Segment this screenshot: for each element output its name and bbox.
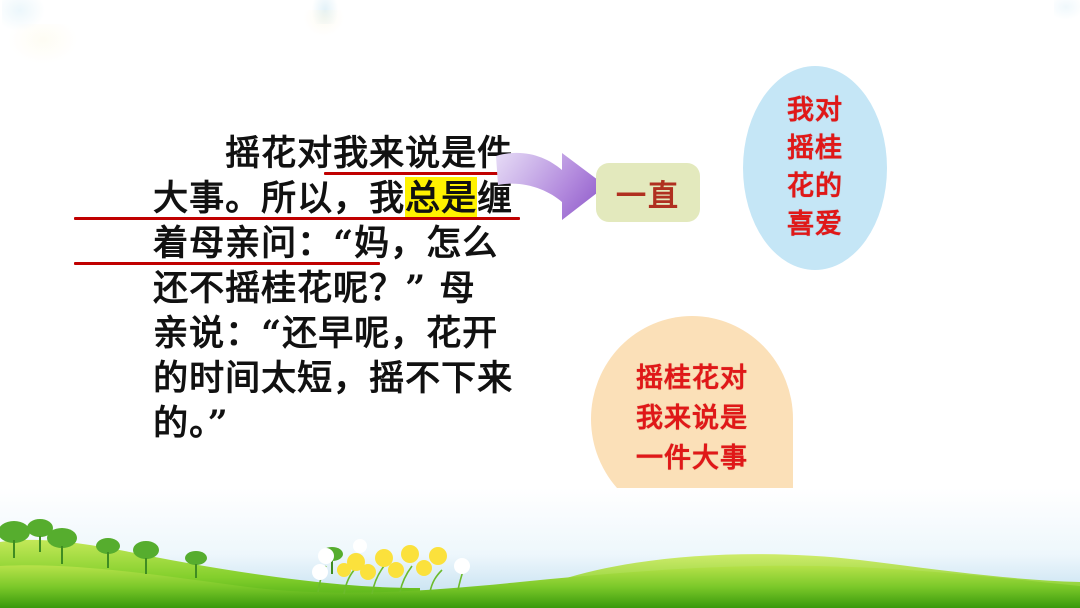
top-left-glow-icon [8,24,78,64]
passage-text: 摇花对我来说是件 大事。所以，我总是缠 着母亲问：“妈，怎么 还不摇桂花呢？” … [74,86,526,401]
purple-curved-arrow-icon [496,150,608,228]
blue-callout-line-2: 摇桂 [787,130,843,168]
passage-line-5: 亲说：“还早呢，花开 [74,266,526,311]
passage-line-3: 着母亲问：“妈，怎么 [74,176,526,221]
blue-callout-line-4: 喜爱 [787,206,843,244]
red-underline-2 [74,217,520,220]
top-center-glow-icon [304,10,344,36]
bottom-landscape-decoration [0,488,1080,608]
red-underline-3 [74,262,380,265]
yizhi-label-text: 一直 [616,171,680,215]
passage-line-1: 摇花对我来说是件 [74,86,526,131]
peach-callout-line-1: 摇桂花对 [636,359,748,399]
passage-line-4: 还不摇桂花呢？” 母 [74,221,526,266]
blue-callout-line-3: 花的 [787,168,843,206]
passage-line-7: 的。” [74,356,526,401]
peach-callout-line-3: 一件大事 [636,439,748,479]
yizhi-label-box[interactable]: 一直 [596,163,700,222]
top-left-sparkle-icon [2,0,46,32]
blue-ellipse-callout[interactable]: 我对 摇桂 花的 喜爱 [743,66,887,270]
slide-canvas: 摇花对我来说是件 大事。所以，我总是缠 着母亲问：“妈，怎么 还不摇桂花呢？” … [0,0,1080,608]
passage-line-2: 大事。所以，我总是缠 [74,131,526,176]
top-right-sparkle-icon [1054,0,1080,20]
top-center-droplet-icon [312,0,338,24]
peach-callout-line-2: 我来说是 [636,399,748,439]
passage-line-7-text: 的。” [153,403,229,444]
passage-line-6: 的时间太短，摇不下来 [74,311,526,356]
red-underline-1 [324,172,518,175]
blue-callout-line-1: 我对 [787,92,843,130]
